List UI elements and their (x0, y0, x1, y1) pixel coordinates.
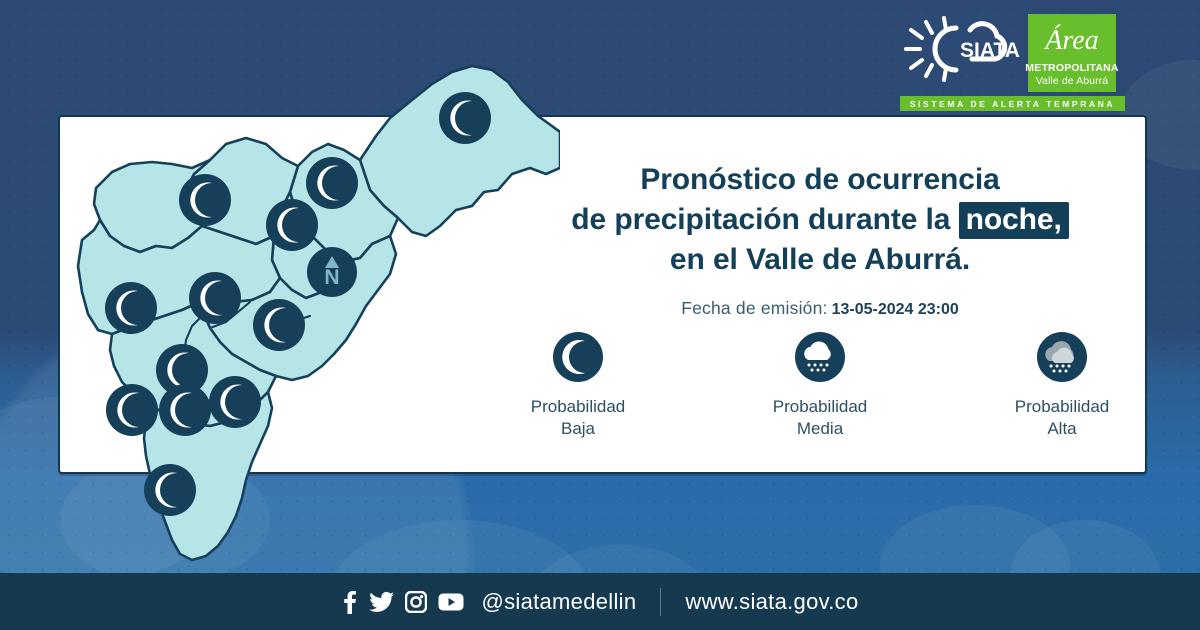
cloud-moon-rain-icon (745, 330, 895, 384)
youtube-icon[interactable] (438, 592, 464, 612)
twitter-icon[interactable] (369, 590, 394, 614)
area-word: Área (1043, 25, 1098, 56)
legend-item-media: Probabilidad Media (745, 330, 895, 440)
legend-label-media: Probabilidad Media (745, 396, 895, 440)
compass-label: N (324, 266, 339, 289)
tagline-text: SISTEMA DE ALERTA TEMPRANA (910, 99, 1115, 109)
logo-group: SIATA Área METROPOLITANA Valle de Aburrá… (900, 14, 1125, 111)
title-line-3: en el Valle de Aburrá. (470, 240, 1170, 280)
moon-icon (106, 384, 158, 436)
cloud-rain-icon (987, 330, 1137, 384)
footer-divider (660, 588, 661, 616)
legend-label-baja: Probabilidad Baja (503, 396, 653, 440)
website-url[interactable]: www.siata.gov.co (685, 589, 858, 615)
moon-icon (189, 272, 241, 324)
moon-icon (306, 157, 358, 209)
moon-icon (144, 464, 196, 516)
compass-north-icon: N (307, 247, 357, 297)
moon-icon (503, 330, 653, 384)
headline-block: Pronóstico de ocurrencia de precipitació… (470, 160, 1170, 319)
title-highlight: noche, (959, 202, 1069, 239)
title-line-2-text: de precipitación durante la (571, 203, 950, 236)
issue-date-value: 13-05-2024 23:00 (832, 301, 959, 318)
siata-logo: SIATA (900, 14, 1020, 89)
legend-item-baja: Probabilidad Baja (503, 330, 653, 440)
moon-icon (209, 376, 261, 428)
footer-bar: @siatamedellin www.siata.gov.co (0, 573, 1200, 630)
social-links (341, 590, 464, 614)
title-line-2: de precipitación durante la noche, (470, 200, 1170, 240)
legend-item-alta: Probabilidad Alta (987, 330, 1137, 440)
instagram-icon[interactable] (405, 591, 427, 613)
siata-wordmark: SIATA (960, 39, 1020, 62)
issue-date: Fecha de emisión:13-05-2024 23:00 (470, 298, 1170, 319)
valle-de-aburra-map: N (60, 40, 560, 600)
moon-icon (439, 92, 491, 144)
area-script-mark: Área (1028, 14, 1116, 63)
probability-legend: Probabilidad Baja Probabilidad Media (470, 330, 1170, 440)
moon-icon (253, 299, 305, 351)
am-line-1: METROPOLITANA (1025, 63, 1118, 75)
moon-icon (105, 282, 157, 334)
am-line-2: Valle de Aburrá (1036, 75, 1109, 87)
title-line-1: Pronóstico de ocurrencia (470, 160, 1170, 200)
moon-icon (179, 174, 231, 226)
tagline-bar: SISTEMA DE ALERTA TEMPRANA (900, 96, 1125, 111)
facebook-icon[interactable] (341, 590, 358, 614)
moon-icon (266, 199, 318, 251)
infographic-canvas: N Pronóstico de ocurrencia de precipitac… (0, 0, 1200, 630)
moon-icon (159, 384, 211, 436)
area-metropolitana-logo: Área METROPOLITANA Valle de Aburrá (1028, 14, 1116, 92)
issue-date-label: Fecha de emisión: (681, 298, 827, 318)
page-title: Pronóstico de ocurrencia de precipitació… (470, 160, 1170, 281)
legend-label-alta: Probabilidad Alta (987, 396, 1137, 440)
social-handle[interactable]: @siatamedellin (481, 589, 636, 615)
